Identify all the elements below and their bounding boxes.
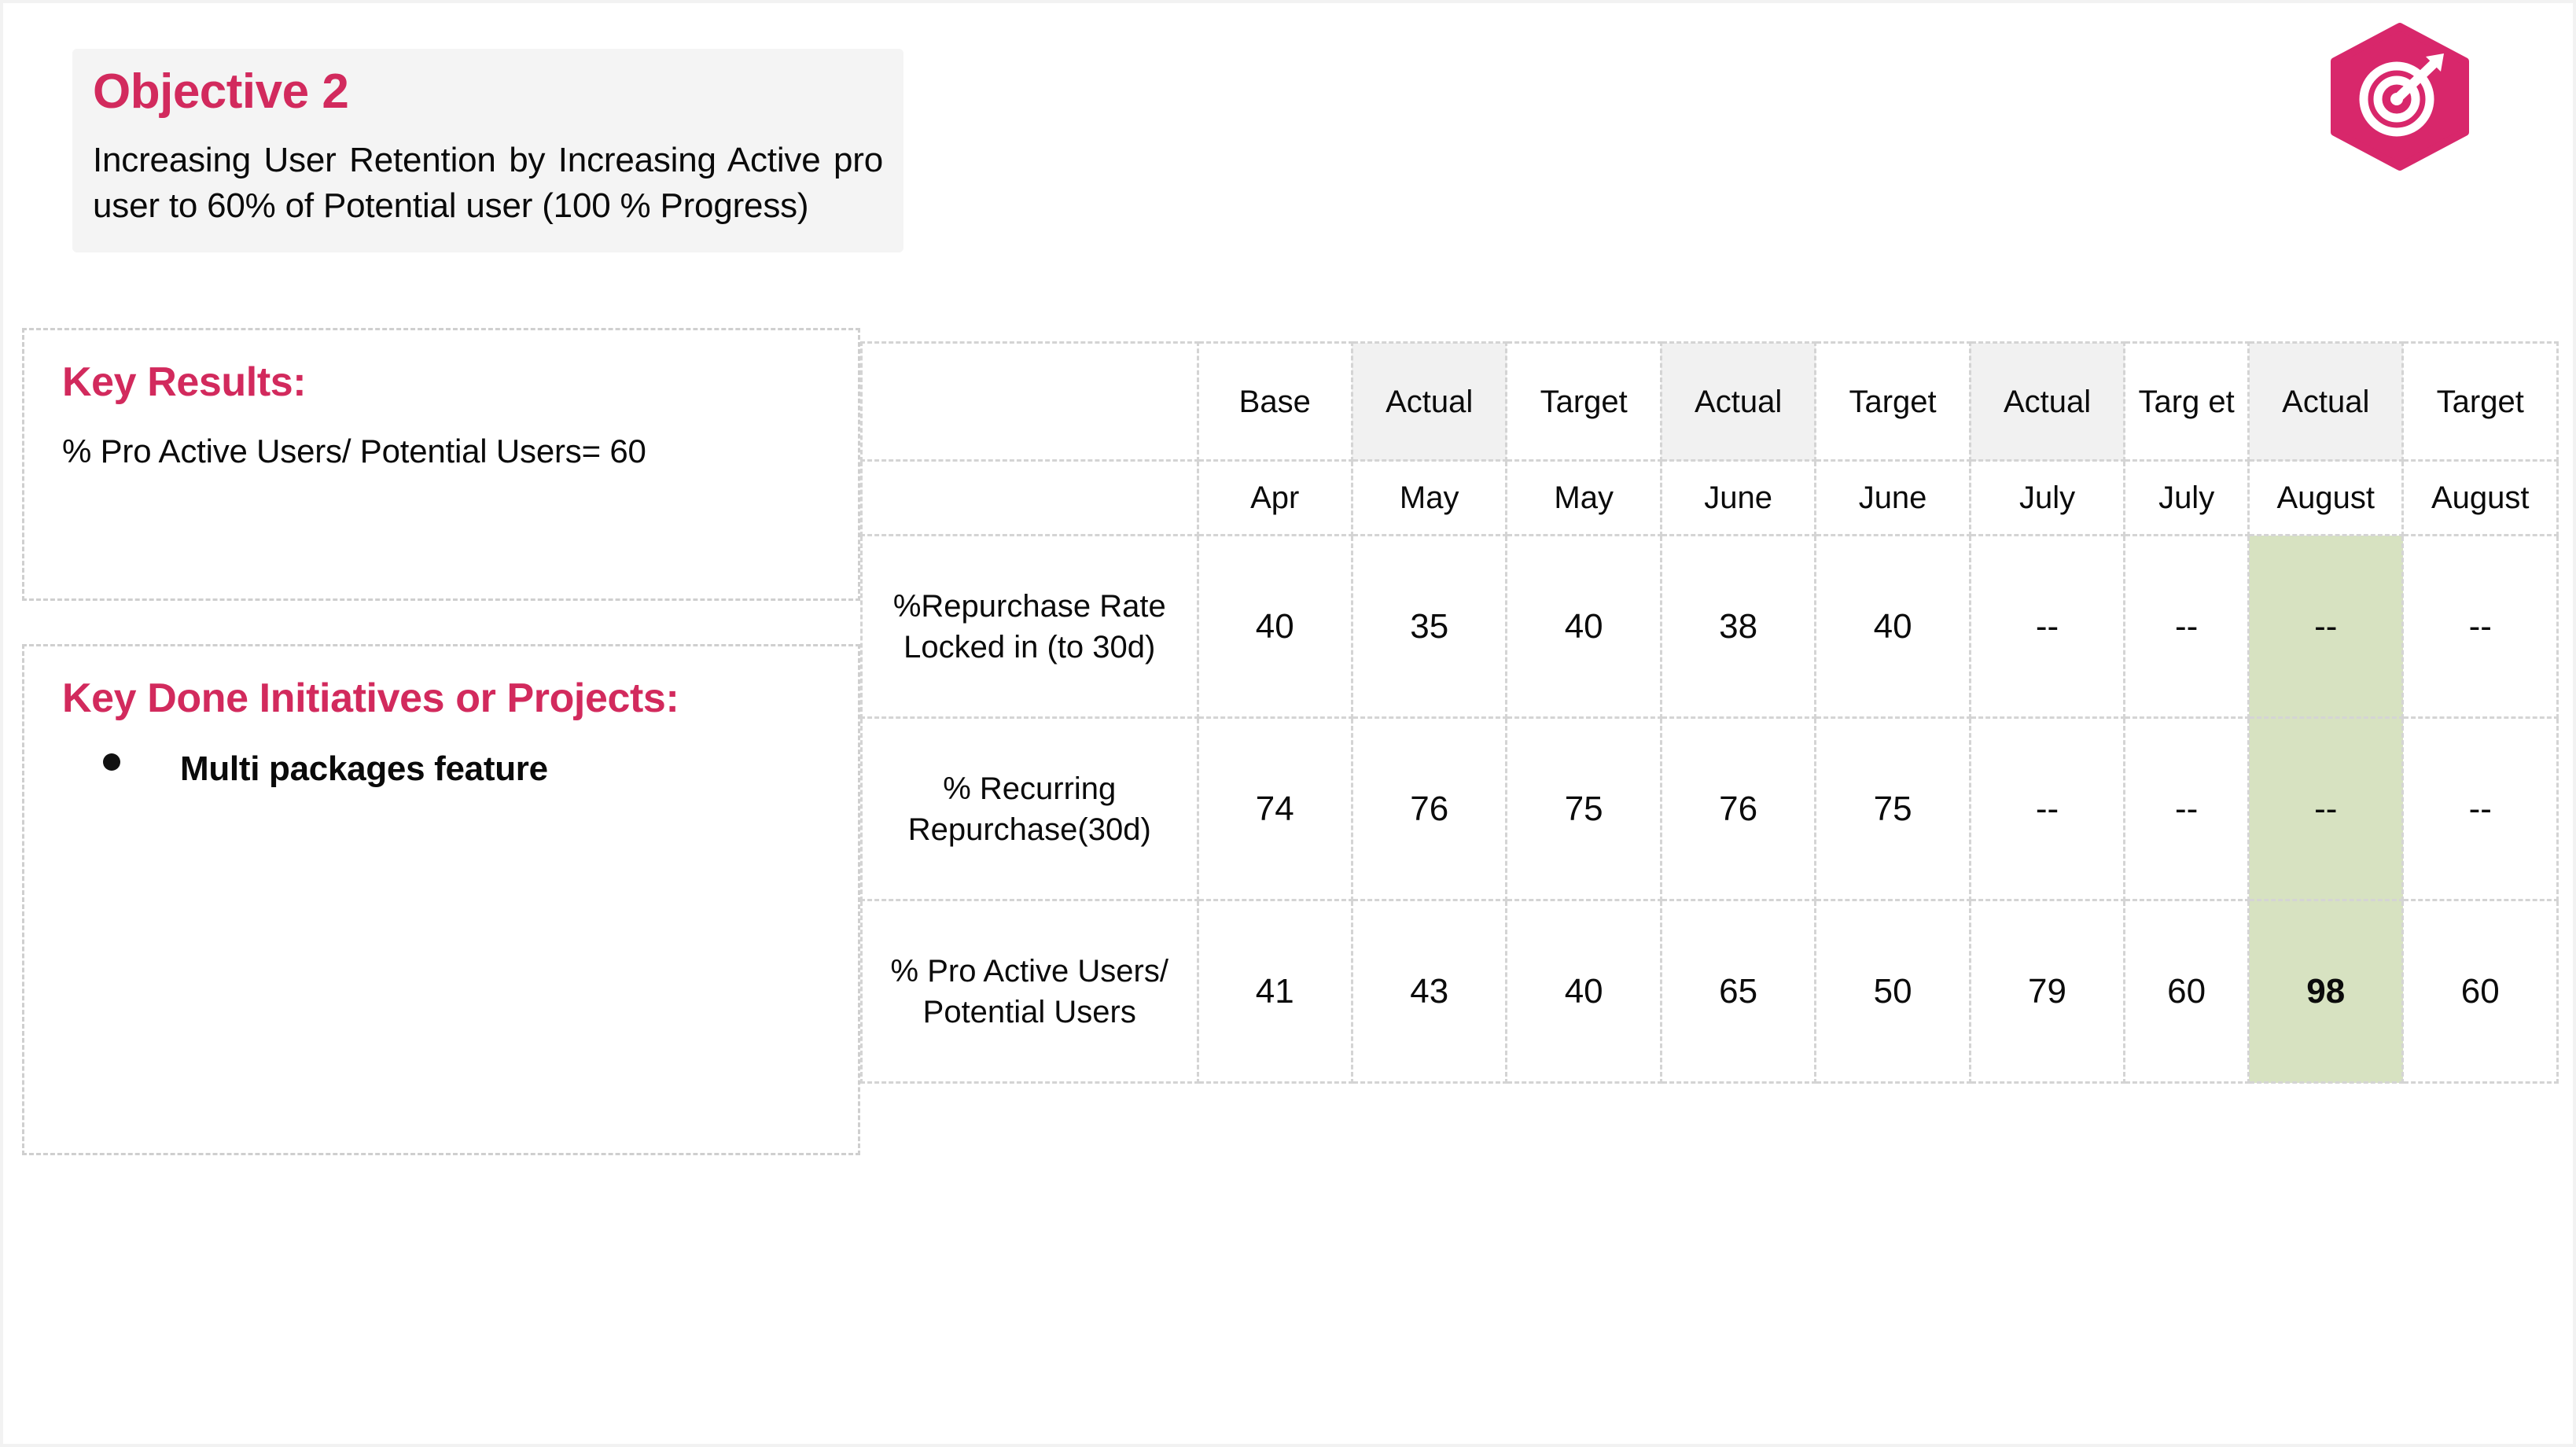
header-kind-actual-may: Actual (1352, 343, 1506, 461)
cell-r1-actual-june: 76 (1661, 718, 1815, 900)
cell-r0-actual-august: -- (2249, 536, 2403, 718)
header-month-july-target: July (2125, 461, 2249, 536)
header-month-apr: Apr (1198, 461, 1352, 536)
table-corner-blank (862, 343, 1198, 461)
okr-metrics-table: Base Actual Target Actual Target Actual … (860, 341, 2559, 1084)
cell-r2-target-august: 60 (2403, 900, 2558, 1083)
cell-r2-actual-june: 65 (1661, 900, 1815, 1083)
cell-r0-actual-may: 35 (1352, 536, 1506, 718)
cell-r0-target-august: -- (2403, 536, 2558, 718)
cell-r0-target-may: 40 (1507, 536, 1661, 718)
initiatives-heading: Key Done Initiatives or Projects: (62, 676, 820, 721)
cell-r1-actual-august: -- (2249, 718, 2403, 900)
table-corner-blank-2 (862, 461, 1198, 536)
table-kind-header-row: Base Actual Target Actual Target Actual … (862, 343, 2558, 461)
cell-r0-actual-june: 38 (1661, 536, 1815, 718)
objective-description: Increasing User Retention by Increasing … (93, 138, 883, 229)
table-row: % Pro Active Users/ Potential Users 41 4… (862, 900, 2558, 1083)
header-kind-target-august: Target (2403, 343, 2558, 461)
header-month-july-actual: July (1970, 461, 2124, 536)
header-kind-target-july: Targ et (2125, 343, 2249, 461)
target-bullseye-icon (2321, 22, 2478, 171)
row-label-repurchase-rate: %Repurchase Rate Locked in (to 30d) (862, 536, 1198, 718)
initiative-label: Multi packages feature (180, 746, 548, 791)
header-month-may-actual: May (1352, 461, 1506, 536)
header-kind-actual-august: Actual (2249, 343, 2403, 461)
slide-canvas: Objective 2 Increasing User Retention by… (0, 0, 2576, 1447)
cell-r1-actual-may: 76 (1352, 718, 1506, 900)
cell-r2-actual-july: 79 (1970, 900, 2124, 1083)
header-kind-target-june: Target (1816, 343, 1970, 461)
cell-r0-actual-july: -- (1970, 536, 2124, 718)
header-month-may-target: May (1507, 461, 1661, 536)
cell-r1-target-august: -- (2403, 718, 2558, 900)
table-row: % Recurring Repurchase(30d) 74 76 75 76 … (862, 718, 2558, 900)
key-results-panel: Key Results: % Pro Active Users/ Potenti… (22, 328, 860, 601)
table-month-header-row: Apr May May June June July July August A… (862, 461, 2558, 536)
table-row: %Repurchase Rate Locked in (to 30d) 40 3… (862, 536, 2558, 718)
cell-r1-target-july: -- (2125, 718, 2249, 900)
list-item: Multi packages feature (62, 746, 820, 791)
cell-r1-target-may: 75 (1507, 718, 1661, 900)
cell-r2-actual-may: 43 (1352, 900, 1506, 1083)
header-month-august-actual: August (2249, 461, 2403, 536)
page-title: Objective 2 (93, 66, 883, 117)
key-results-item: % Pro Active Users/ Potential Users= 60 (62, 430, 820, 473)
cell-r2-base-apr: 41 (1198, 900, 1352, 1083)
header-month-june-target: June (1816, 461, 1970, 536)
cell-r2-actual-august: 98 (2249, 900, 2403, 1083)
header-month-august-target: August (2403, 461, 2558, 536)
cell-r2-target-july: 60 (2125, 900, 2249, 1083)
cell-r0-target-july: -- (2125, 536, 2249, 718)
header-kind-actual-june: Actual (1661, 343, 1815, 461)
cell-r0-base-apr: 40 (1198, 536, 1352, 718)
key-results-heading: Key Results: (62, 360, 820, 405)
header-kind-target-may: Target (1507, 343, 1661, 461)
cell-r2-target-june: 50 (1816, 900, 1970, 1083)
cell-r1-target-june: 75 (1816, 718, 1970, 900)
header-kind-actual-july: Actual (1970, 343, 2124, 461)
header-month-june-actual: June (1661, 461, 1815, 536)
row-label-pro-active-users: % Pro Active Users/ Potential Users (862, 900, 1198, 1083)
cell-r1-actual-july: -- (1970, 718, 2124, 900)
cell-r0-target-june: 40 (1816, 536, 1970, 718)
cell-r1-base-apr: 74 (1198, 718, 1352, 900)
row-label-recurring-repurchase: % Recurring Repurchase(30d) (862, 718, 1198, 900)
header-kind-base-apr: Base (1198, 343, 1352, 461)
initiatives-list: Multi packages feature (62, 746, 820, 791)
cell-r2-target-may: 40 (1507, 900, 1661, 1083)
objective-box: Objective 2 Increasing User Retention by… (72, 49, 903, 252)
bullet-dot-icon (103, 753, 120, 771)
initiatives-panel: Key Done Initiatives or Projects: Multi … (22, 644, 860, 1155)
